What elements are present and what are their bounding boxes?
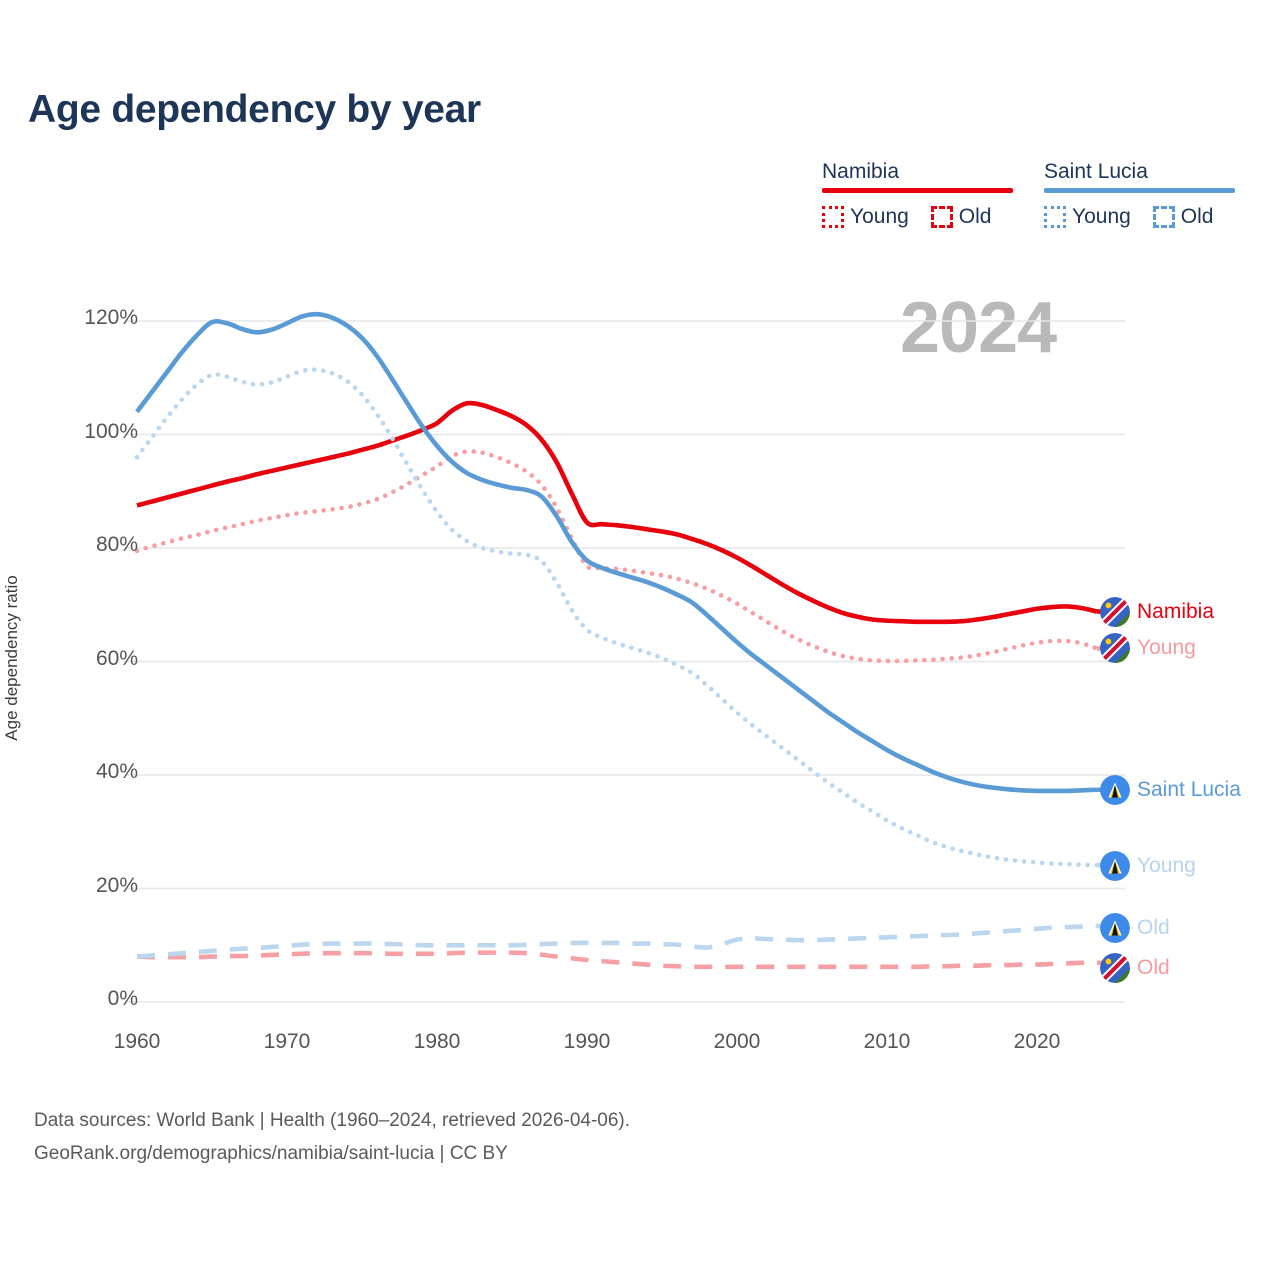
y-tick-label: 0% <box>108 987 138 1011</box>
x-tick-label: 2000 <box>714 1030 761 1054</box>
y-tick-label: 120% <box>84 306 138 330</box>
series-end-label[interactable]: Young <box>1100 851 1196 881</box>
chart-page: Age dependency by year Namibia Young Old… <box>0 0 1280 1280</box>
series-end-label-text: Old <box>1137 956 1170 980</box>
x-tick-label: 2020 <box>1014 1030 1061 1054</box>
x-tick-label: 1970 <box>264 1030 311 1054</box>
series-line <box>137 403 1097 622</box>
x-tick-label: 1980 <box>414 1030 461 1054</box>
y-tick-label: 40% <box>96 760 138 784</box>
y-tick-label: 80% <box>96 533 138 557</box>
namibia-flag-icon <box>1100 597 1130 627</box>
x-tick-label: 1990 <box>564 1030 611 1054</box>
saint-lucia-flag-icon <box>1100 851 1130 881</box>
x-tick-label: 1960 <box>114 1030 161 1054</box>
series-end-label-text: Old <box>1137 916 1170 940</box>
saint-lucia-flag-icon <box>1100 913 1130 943</box>
series-end-label[interactable]: Old <box>1100 953 1170 983</box>
series-line <box>137 926 1097 957</box>
footer-line-sources: Data sources: World Bank | Health (1960–… <box>34 1104 630 1137</box>
series-end-label[interactable]: Namibia <box>1100 597 1214 627</box>
series-line <box>137 451 1097 661</box>
series-end-label[interactable]: Saint Lucia <box>1100 775 1241 805</box>
y-tick-label: 60% <box>96 647 138 671</box>
series-end-label-text: Saint Lucia <box>1137 778 1241 802</box>
y-tick-label: 100% <box>84 420 138 444</box>
series-end-label[interactable]: Young <box>1100 633 1196 663</box>
chart-svg <box>0 0 1280 1280</box>
namibia-flag-icon <box>1100 633 1130 663</box>
footer-line-url[interactable]: GeoRank.org/demographics/namibia/saint-l… <box>34 1137 630 1170</box>
chart-plot-area: Age dependency ratio 0%20%40%60%80%100%1… <box>0 0 1280 1280</box>
series-end-label-text: Young <box>1137 854 1196 878</box>
saint-lucia-flag-icon <box>1100 775 1130 805</box>
x-tick-label: 2010 <box>864 1030 911 1054</box>
y-tick-label: 20% <box>96 874 138 898</box>
footer-credits: Data sources: World Bank | Health (1960–… <box>34 1104 630 1171</box>
series-line <box>137 953 1097 967</box>
series-line <box>137 370 1097 866</box>
series-end-label-text: Young <box>1137 636 1196 660</box>
series-line <box>137 314 1097 791</box>
series-end-label-text: Namibia <box>1137 600 1214 624</box>
series-end-label[interactable]: Old <box>1100 913 1170 943</box>
namibia-flag-icon <box>1100 953 1130 983</box>
